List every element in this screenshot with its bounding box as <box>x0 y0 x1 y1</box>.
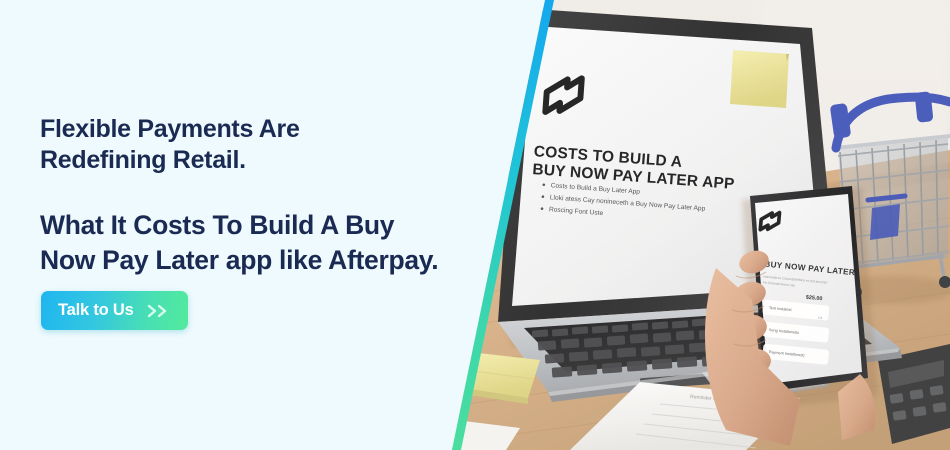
hero-banner: COSTS TO BUILD A BUY NOW PAY LATER APP C… <box>0 0 950 450</box>
headline-primary-line1: Flexible Payments Are <box>40 114 300 145</box>
hero-text-panel: Flexible Payments Are Redefining Retail.… <box>0 0 560 450</box>
talk-to-us-button[interactable]: Talk to Us <box>41 291 188 330</box>
headline-secondary-line2: Now Pay Later app like Afterpay. <box>40 243 438 278</box>
double-chevron-right-icon <box>147 304 171 318</box>
headline-secondary: What It Costs To Build A Buy Now Pay Lat… <box>40 208 438 278</box>
headline-primary-line2: Redefining Retail. <box>40 145 300 176</box>
headline-primary: Flexible Payments Are Redefining Retail. <box>40 114 300 176</box>
headline-secondary-line1: What It Costs To Build A Buy <box>40 208 438 243</box>
cta-label: Talk to Us <box>58 301 134 320</box>
